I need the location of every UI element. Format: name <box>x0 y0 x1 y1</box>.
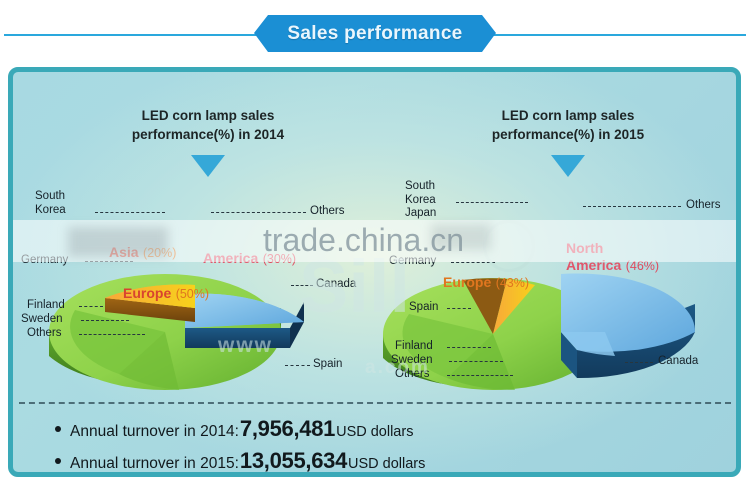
leader-2015-germany <box>451 262 495 263</box>
label-2014-germany: Germany <box>21 254 68 268</box>
chart-title-2015: LED corn lamp sales performance(%) in 20… <box>453 106 683 144</box>
slice-label-2014-europe: Europe (50%) <box>123 285 209 303</box>
label-2015-germany: Germany <box>389 255 436 269</box>
leader-2015-others-right <box>583 206 681 207</box>
label-2014-others-left: Others <box>27 327 62 341</box>
leader-2015-south-korea <box>456 202 528 203</box>
leader-2014-others-left <box>79 334 145 335</box>
label-2014-sweden: Sweden <box>21 313 63 327</box>
label-2014-spain: Spain <box>313 358 342 372</box>
header-rule-left <box>4 34 260 36</box>
leader-2015-finland <box>447 347 491 348</box>
summary-list: Annual turnover in 2014: 7,956,481 USD d… <box>55 416 425 477</box>
summary-2015-suffix: USD dollars <box>348 456 425 472</box>
label-2015-canada: Canada <box>658 355 698 369</box>
chart-title-2015-line1: LED corn lamp sales <box>453 106 683 125</box>
triangle-marker-2015-icon <box>551 155 585 177</box>
label-2015-others-left: Others <box>395 368 430 382</box>
banner-title: Sales performance <box>287 23 462 45</box>
page-header: Sales performance <box>0 0 750 64</box>
label-2015-sweden: Sweden <box>391 354 433 368</box>
label-2014-south-korea: South Korea <box>35 190 66 217</box>
bullet-dot-icon <box>55 426 61 432</box>
label-2014-others-right: Others <box>310 205 345 219</box>
label-2015-finland: Finland <box>395 340 433 354</box>
chart-title-2014-line2: performance(%) in 2014 <box>93 125 323 144</box>
summary-2014-prefix: Annual turnover in 2014: <box>70 423 239 441</box>
leader-2014-others-right <box>211 212 306 213</box>
summary-2014-amount: 7,956,481 <box>239 416 336 442</box>
summary-2014-suffix: USD dollars <box>336 424 413 440</box>
leader-2015-canada <box>625 362 653 363</box>
bullet-dot-icon <box>55 458 61 464</box>
summary-divider <box>19 402 731 404</box>
sales-performance-banner: Sales performance <box>254 15 496 52</box>
chart-title-2015-line2: performance(%) in 2015 <box>453 125 683 144</box>
summary-2015-prefix: Annual turnover in 2015: <box>70 455 239 473</box>
triangle-marker-2014-icon <box>191 155 225 177</box>
slice-label-2015-north-america: North America (46%) <box>566 240 659 275</box>
label-2014-finland: Finland <box>27 299 65 313</box>
summary-2015-amount: 13,055,634 <box>239 448 348 474</box>
slice-label-2015-europe: Europe (43%) <box>443 274 529 292</box>
summary-row-2014: Annual turnover in 2014: 7,956,481 USD d… <box>55 416 425 442</box>
leader-2014-sweden <box>81 320 129 321</box>
label-2015-south-korea-japan: South Korea Japan <box>405 180 436 221</box>
leader-2014-south-korea <box>95 212 165 213</box>
leader-2014-finland <box>79 306 103 307</box>
leader-2014-spain <box>285 365 310 366</box>
label-2015-others-right: Others <box>686 199 721 213</box>
leader-2015-others-left <box>447 375 513 376</box>
content-panel: LED corn lamp sales performance(%) in 20… <box>8 67 741 477</box>
chart-title-2014: LED corn lamp sales performance(%) in 20… <box>93 106 323 144</box>
leader-2015-sweden <box>449 361 503 362</box>
chart-title-2014-line1: LED corn lamp sales <box>93 106 323 125</box>
label-2015-spain: Spain <box>409 301 438 315</box>
slice-label-2014-asia: Asia (20%) <box>109 244 176 262</box>
summary-row-2015: Annual turnover in 2015: 13,055,634 USD … <box>55 448 425 474</box>
label-2014-canada: Canada <box>316 278 356 292</box>
slice-label-2014-america: America (30%) <box>203 250 296 268</box>
leader-2015-spain <box>447 308 471 309</box>
header-rule-right <box>490 34 746 36</box>
leader-2014-canada <box>291 285 313 286</box>
